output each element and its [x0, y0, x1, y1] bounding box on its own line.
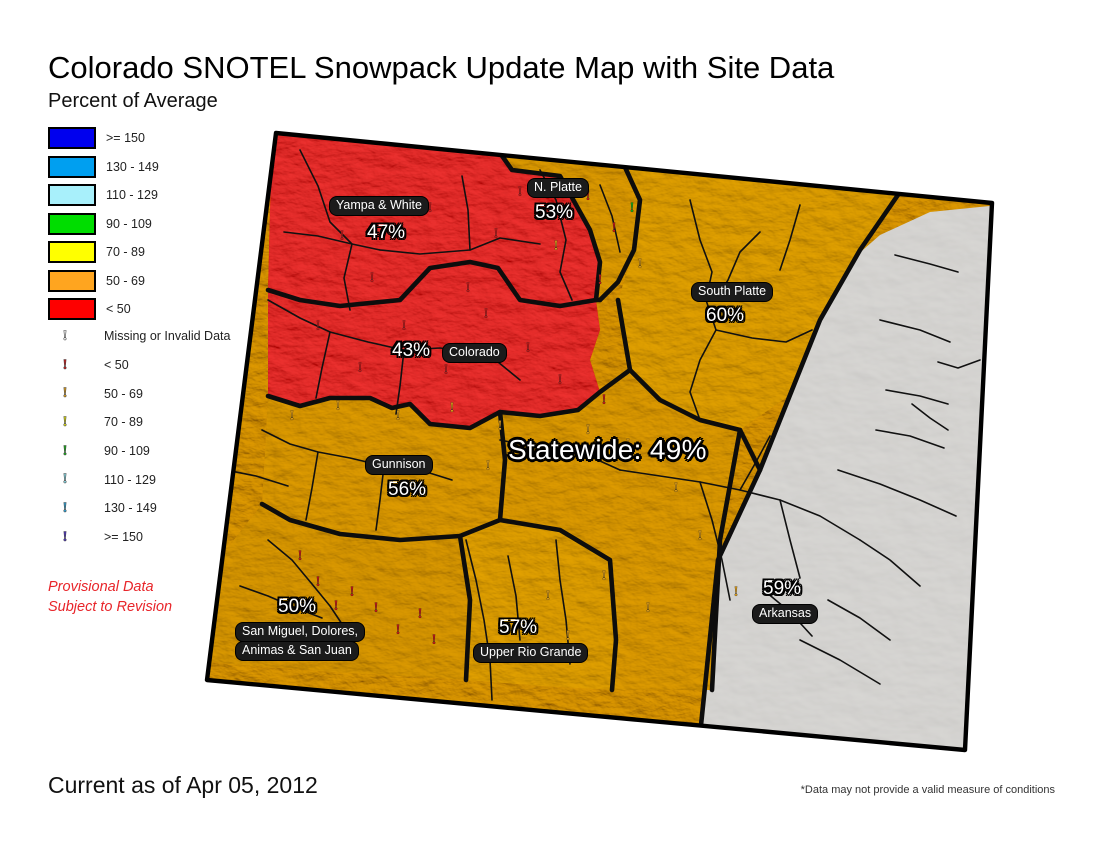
exclamation-icon: !: [48, 358, 82, 373]
svg-text:!: !: [546, 588, 551, 604]
provisional-line-1: Provisional Data: [48, 577, 172, 597]
svg-text:!: !: [698, 528, 703, 544]
legend-color-swatch: [48, 127, 96, 149]
legend-site-row: !50 - 69: [48, 379, 288, 408]
legend-color-swatch: [48, 241, 96, 263]
svg-text:!: !: [316, 318, 321, 334]
legend-color-row: 110 - 129: [48, 181, 268, 210]
legend-site-row: !< 50: [48, 351, 288, 380]
legend-color-label: 50 - 69: [106, 274, 145, 288]
legend-site-label: 130 - 149: [104, 501, 157, 515]
legend-color-bins: >= 150130 - 149110 - 12990 - 10970 - 895…: [48, 124, 268, 324]
exclamation-icon: !: [48, 501, 82, 516]
svg-text:!: !: [466, 280, 471, 296]
legend-color-label: >= 150: [106, 131, 145, 145]
svg-text:!: !: [630, 200, 635, 216]
svg-text:!: !: [734, 584, 739, 600]
svg-text:!: !: [374, 600, 379, 616]
svg-text:!: !: [358, 360, 363, 376]
svg-text:!: !: [518, 184, 523, 200]
svg-text:!: !: [566, 628, 571, 644]
legend-color-row: >= 150: [48, 124, 268, 153]
exclamation-icon: !: [48, 386, 82, 401]
legend-color-label: < 50: [106, 302, 131, 316]
legend-site-label: >= 150: [104, 530, 143, 544]
exclamation-icon: !: [48, 415, 82, 430]
legend-color-row: 90 - 109: [48, 210, 268, 239]
legend-site-label: 110 - 129: [104, 473, 156, 487]
legend-color-swatch: [48, 213, 96, 235]
exclamation-icon: !: [48, 444, 82, 459]
legend-site-label: 90 - 109: [104, 444, 150, 458]
footer-date: Current as of Apr 05, 2012: [48, 772, 318, 799]
svg-text:!: !: [370, 270, 375, 286]
svg-text:!: !: [298, 548, 303, 564]
provisional-data-note: Provisional Data Subject to Revision: [48, 577, 172, 617]
svg-text:!: !: [626, 436, 631, 452]
svg-text:!: !: [602, 568, 607, 584]
svg-text:!: !: [402, 318, 407, 334]
svg-text:!: !: [418, 606, 423, 622]
legend-site-row: !70 - 89: [48, 408, 288, 437]
legend-color-label: 90 - 109: [106, 217, 152, 231]
svg-text:!: !: [558, 372, 563, 388]
svg-text:!: !: [396, 408, 401, 424]
svg-text:!: !: [450, 400, 455, 416]
legend-color-swatch: [48, 156, 96, 178]
svg-text:!: !: [290, 408, 295, 424]
svg-text:!: !: [646, 600, 651, 616]
svg-text:!: !: [598, 272, 603, 288]
legend-color-swatch: [48, 184, 96, 206]
legend-color-label: 70 - 89: [106, 245, 145, 259]
legend-site-row: !Missing or Invalid Data: [48, 322, 288, 351]
legend-color-row: 70 - 89: [48, 238, 268, 267]
exclamation-icon: !: [48, 530, 82, 545]
exclamation-icon: !: [48, 329, 82, 344]
svg-text:!: !: [526, 340, 531, 356]
svg-text:!: !: [494, 226, 499, 242]
svg-text:!: !: [432, 632, 437, 648]
svg-text:!: !: [428, 200, 433, 216]
legend-color-label: 110 - 129: [106, 188, 158, 202]
legend-color-row: 130 - 149: [48, 153, 268, 182]
svg-text:!: !: [586, 188, 591, 204]
legend-site-label: 70 - 89: [104, 415, 143, 429]
provisional-line-2: Subject to Revision: [48, 597, 172, 617]
legend-color-swatch: [48, 298, 96, 320]
svg-text:!: !: [586, 422, 591, 438]
map-regions: ! ! ! ! ! ! ! ! ! ! ! ! ! ! ! ! ! ! ! ! …: [190, 0, 1010, 770]
legend-site-label: Missing or Invalid Data: [104, 329, 230, 343]
svg-text:!: !: [340, 228, 345, 244]
svg-text:!: !: [554, 238, 559, 254]
svg-text:!: !: [498, 418, 503, 434]
svg-text:!: !: [350, 584, 355, 600]
legend-site-row: !>= 150: [48, 523, 288, 552]
svg-text:!: !: [486, 458, 491, 474]
svg-text:!: !: [444, 362, 449, 378]
legend-site-row: !110 - 129: [48, 465, 288, 494]
svg-text:!: !: [298, 0, 303, 4]
legend-site-label: 50 - 69: [104, 387, 143, 401]
svg-text:!: !: [612, 220, 617, 236]
svg-text:!: !: [336, 398, 341, 414]
legend-color-row: < 50: [48, 295, 268, 324]
svg-text:!: !: [316, 574, 321, 590]
svg-text:!: !: [484, 306, 489, 322]
exclamation-icon: !: [48, 472, 82, 487]
legend-color-swatch: [48, 270, 96, 292]
svg-text:!: !: [638, 256, 643, 272]
footer-disclaimer: *Data may not provide a valid measure of…: [801, 784, 1055, 796]
svg-text:!: !: [334, 598, 339, 614]
legend-site-row: !130 - 149: [48, 494, 288, 523]
legend-color-row: 50 - 69: [48, 267, 268, 296]
svg-text:!: !: [602, 392, 607, 408]
legend-site-label: < 50: [104, 358, 129, 372]
svg-text:!: !: [674, 480, 679, 496]
legend-site-markers: !Missing or Invalid Data!< 50!50 - 69!70…: [48, 322, 288, 552]
legend-site-row: !90 - 109: [48, 437, 288, 466]
legend-color-label: 130 - 149: [106, 160, 159, 174]
svg-text:!: !: [396, 622, 401, 638]
